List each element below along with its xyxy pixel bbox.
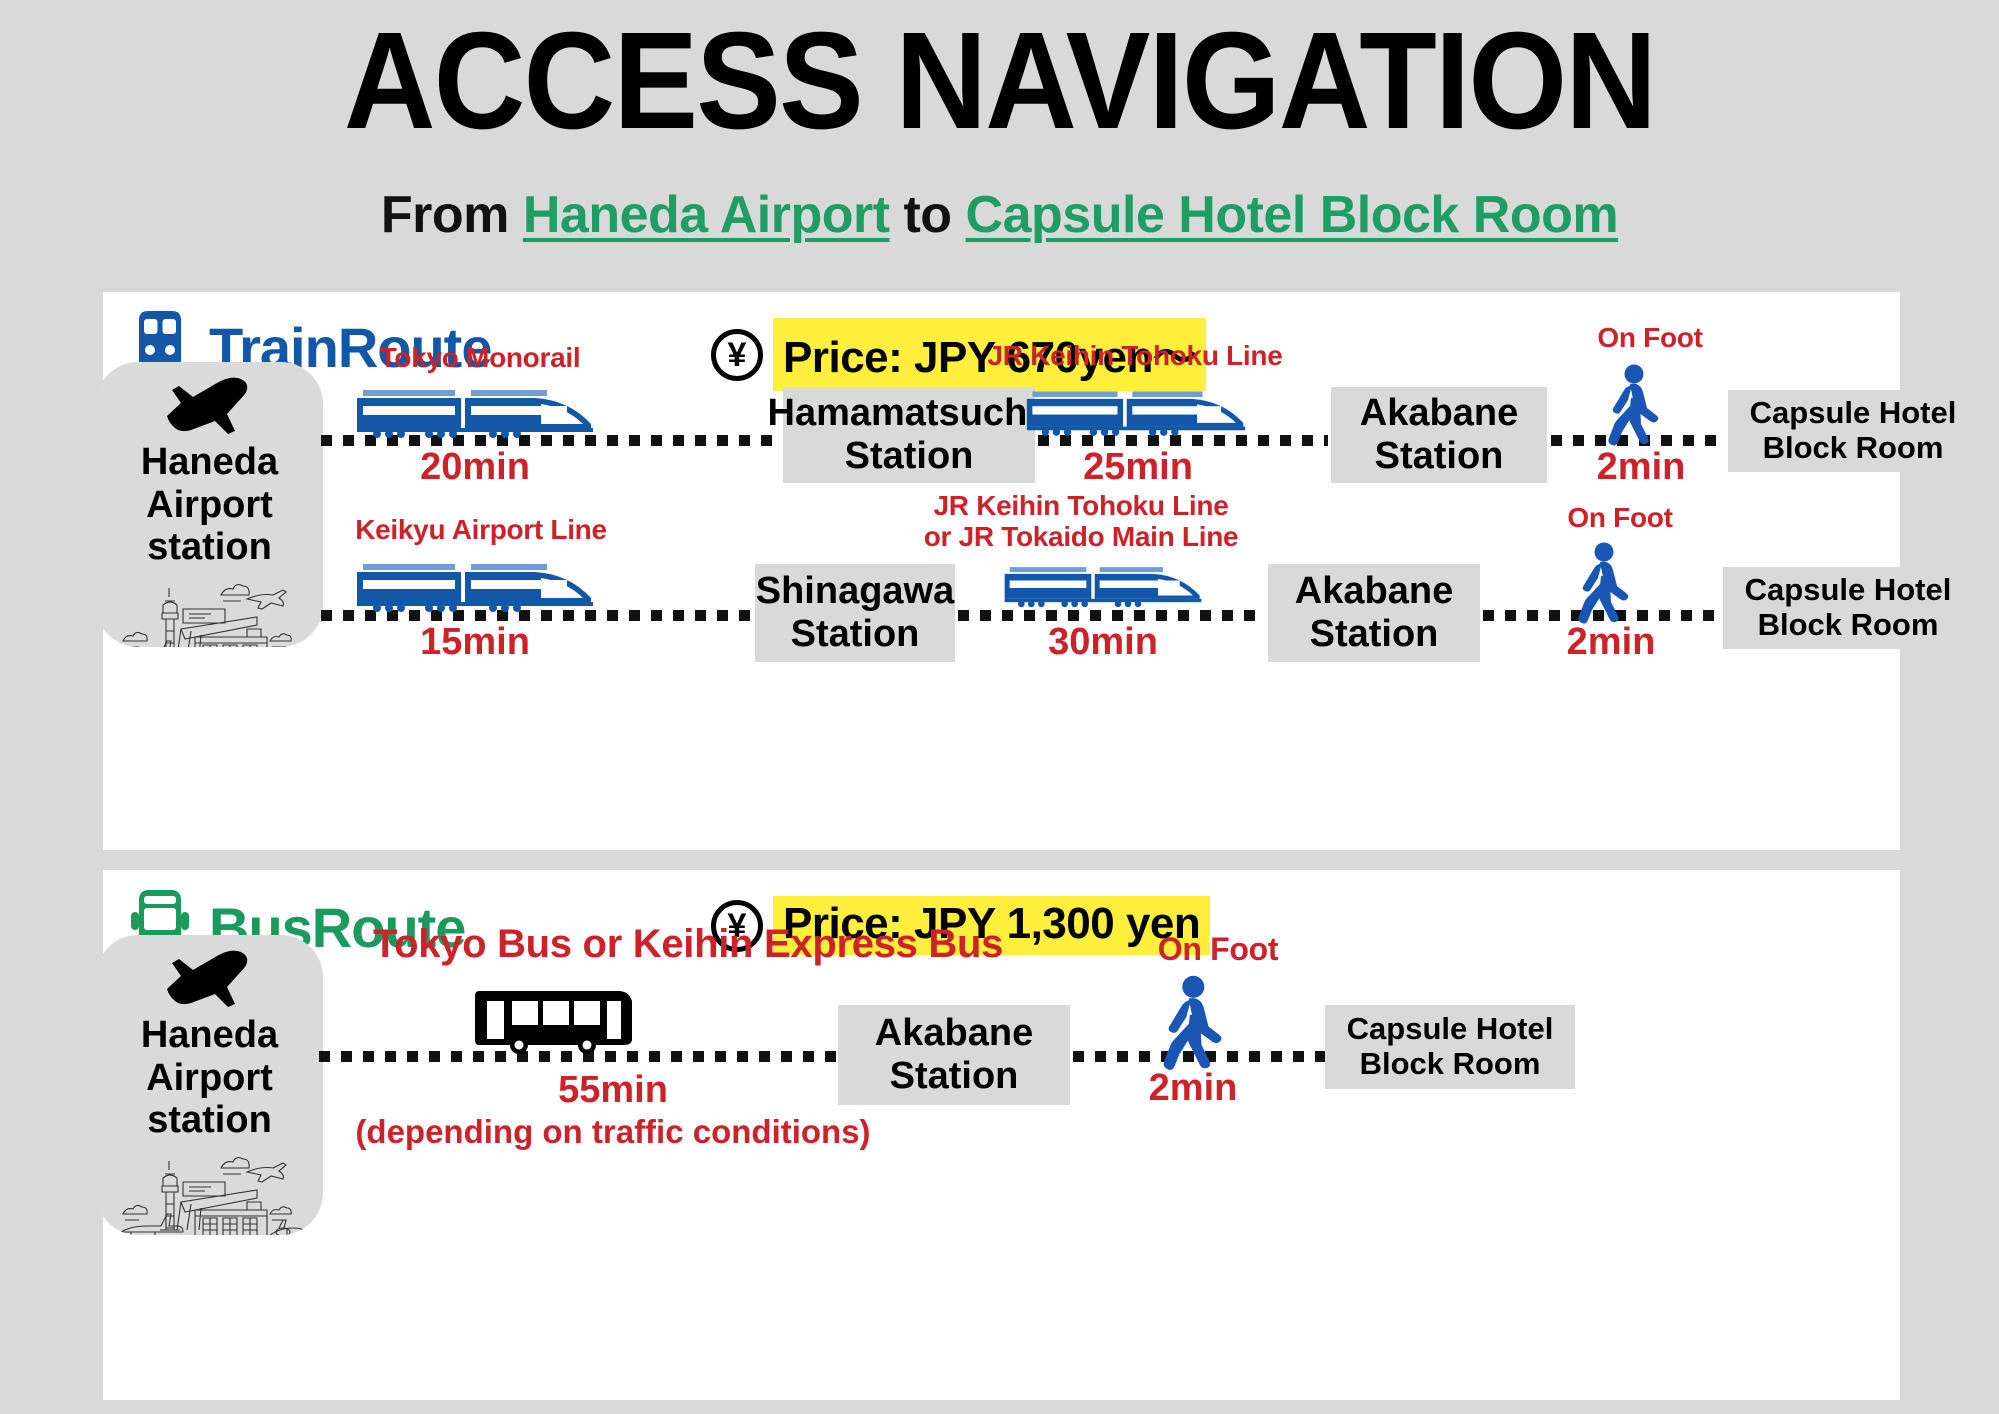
stop-box-capsule-hotel: Capsule HotelBlock Room	[1723, 567, 1973, 649]
stop-line2: Block Room	[1763, 430, 1944, 465]
origin-line1: Haneda Airport	[141, 1014, 278, 1099]
leg-note-traffic: (depending on traffic conditions)	[288, 1114, 938, 1150]
stop-line1: Capsule Hotel	[1745, 572, 1952, 607]
stop-line1: Capsule Hotel	[1347, 1011, 1554, 1046]
origin-line1: Haneda Airport	[141, 441, 278, 526]
origin-card-haneda-train: Haneda Airport station	[96, 362, 323, 647]
stop-box-akabane: AkabaneStation	[1268, 564, 1480, 662]
stop-line1: Akabane	[1295, 570, 1453, 612]
stop-line2: Station	[1375, 435, 1504, 477]
leg-label-jr-keihin-or-tokaido: JR Keihin Tohoku Line or JR Tokaido Main…	[881, 490, 1281, 553]
stop-line1: Akabane	[875, 1012, 1033, 1054]
airplane-icon	[161, 949, 259, 1012]
stop-line2: Block Room	[1360, 1046, 1541, 1081]
train-side-icon	[1025, 380, 1247, 443]
leg-time-15min: 15min	[355, 622, 595, 664]
leg-time-2min: 2min	[1581, 447, 1701, 489]
airport-terminal-illustration	[107, 579, 312, 647]
leg-label-on-foot: On Foot	[1103, 932, 1333, 968]
leg-label-line2: or JR Tokaido Main Line	[924, 521, 1239, 552]
stop-box-capsule-hotel: Capsule HotelBlock Room	[1325, 1005, 1575, 1089]
train-side-icon	[355, 554, 595, 617]
airport-terminal-illustration	[107, 1152, 312, 1235]
leg-time-30min: 30min	[1003, 622, 1203, 664]
stop-line1: Hamamatsucho	[768, 392, 1051, 434]
subtitle-prefix: From	[381, 186, 523, 244]
walking-person-icon	[1155, 975, 1227, 1078]
leg-label-tokyo-bus-keihin-express: Tokyo Bus or Keihin Express Bus	[338, 922, 1038, 967]
walking-person-icon	[1601, 364, 1663, 453]
bus-side-icon	[475, 983, 640, 1066]
page-title: ACCESS NAVIGATION	[80, 12, 1919, 150]
stop-box-capsule-hotel: Capsule HotelBlock Room	[1728, 390, 1978, 472]
stop-box-shinagawa: ShinagawaStation	[755, 564, 955, 662]
leg-label-tokyo-monorail: Tokyo Monorail	[335, 342, 625, 373]
stop-line1: Capsule Hotel	[1750, 395, 1957, 430]
stop-box-akabane: AkabaneStation	[838, 1005, 1070, 1105]
bus-route-panel: BusRoute ¥ Price: JPY 1,300 yen Haneda A…	[103, 870, 1900, 1400]
leg-time-25min: 25min	[1025, 447, 1251, 489]
stop-line2: Station	[845, 435, 974, 477]
leg-label-keikyu-airport-line: Keikyu Airport Line	[331, 514, 631, 545]
leg-label-jr-keihin-tohoku: JR Keihin Tohoku Line	[925, 340, 1345, 371]
subtitle-mid: to	[890, 186, 966, 244]
origin-card-label-train: Haneda Airport station	[96, 441, 323, 569]
train-side-icon	[355, 380, 595, 443]
train-route-panel: TrainRoute ¥ Price: JPY 670yen〜 Haneda A…	[103, 292, 1900, 850]
leg-time-20min: 20min	[355, 447, 595, 489]
subtitle-destination-link: Capsule Hotel Block Room	[966, 186, 1619, 244]
stop-box-hamamatsucho: HamamatsuchoStation	[783, 387, 1035, 483]
leg-time-2min: 2min	[1551, 622, 1671, 664]
stop-box-akabane: AkabaneStation	[1331, 387, 1547, 483]
leg-label-on-foot: On Foot	[1535, 502, 1705, 533]
stop-line2: Station	[791, 613, 920, 655]
yen-circle-icon: ¥	[711, 329, 763, 381]
stop-line2: Station	[890, 1055, 1019, 1097]
train-side-icon	[1003, 554, 1203, 617]
leg-label-on-foot: On Foot	[1565, 322, 1735, 353]
airplane-icon	[161, 376, 259, 439]
stop-line2: Station	[1310, 613, 1439, 655]
stop-line2: Block Room	[1758, 607, 1939, 642]
subtitle-origin-link: Haneda Airport	[523, 186, 890, 244]
origin-line2: station	[147, 526, 272, 568]
page-subtitle: From Haneda Airport to Capsule Hotel Blo…	[0, 185, 1999, 245]
origin-line2: station	[147, 1099, 272, 1141]
walking-person-icon	[1571, 542, 1633, 631]
stop-line1: Shinagawa	[756, 570, 955, 612]
stop-line1: Akabane	[1360, 392, 1518, 434]
leg-label-line1: JR Keihin Tohoku Line	[934, 490, 1229, 521]
leg-time-2min: 2min	[1133, 1068, 1253, 1110]
leg-time-55min: 55min	[348, 1070, 878, 1112]
origin-card-haneda-bus: Haneda Airport station	[96, 935, 323, 1235]
